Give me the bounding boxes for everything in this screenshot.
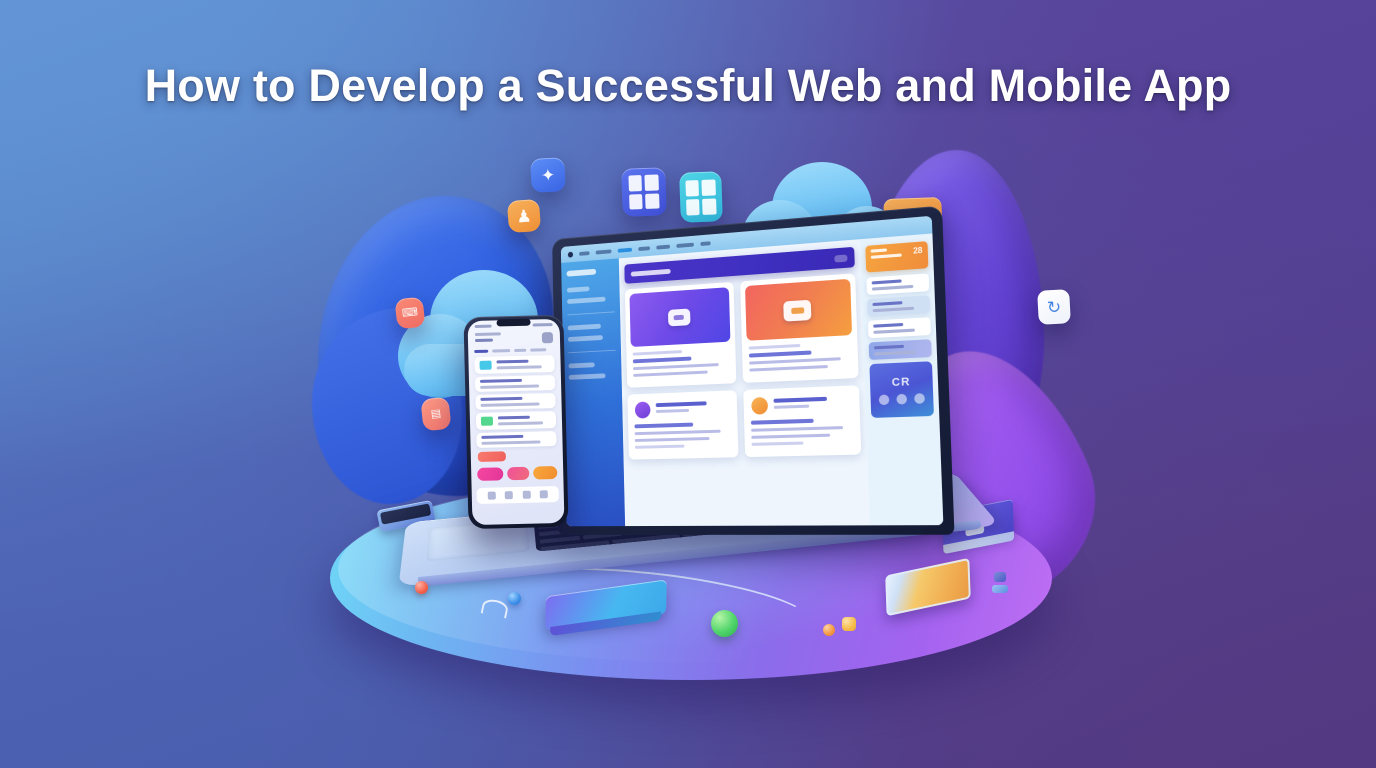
card-text	[626, 347, 735, 377]
article-card-orange[interactable]	[743, 385, 861, 457]
green-sphere-prop	[711, 610, 738, 637]
sidebar-item[interactable]	[568, 324, 601, 331]
list-item-text	[480, 396, 550, 407]
card-title	[748, 351, 811, 358]
grid-glyph-2	[686, 179, 717, 215]
sidebar-divider	[568, 350, 615, 353]
promo-value: 28	[913, 246, 923, 256]
avatar-icon	[751, 397, 768, 415]
card-line	[751, 434, 831, 439]
app-logo-icon	[568, 251, 573, 257]
phone-tab[interactable]	[514, 349, 526, 352]
chart-icon	[914, 393, 925, 404]
rail-footer: CR	[869, 361, 934, 418]
cards-badge-icon	[783, 299, 811, 321]
nav-item[interactable]	[656, 244, 670, 249]
phone-tab[interactable]	[530, 348, 546, 351]
sparkle-glyph: ✦	[540, 166, 555, 184]
sidebar-panel	[561, 258, 625, 526]
grid-layout-icon-2	[679, 171, 723, 222]
card-line	[749, 357, 841, 364]
nav-item[interactable]	[579, 251, 590, 256]
sidebar-item[interactable]	[568, 335, 603, 342]
blue-sphere-prop	[508, 592, 521, 605]
list-item-thumb	[479, 361, 491, 370]
smartphone-device	[463, 315, 568, 529]
card-thumbnail	[629, 287, 729, 347]
promo-text	[871, 247, 902, 262]
list-item[interactable]	[476, 411, 556, 430]
tab-bar-item[interactable]	[505, 491, 513, 499]
phone-tab[interactable]	[492, 349, 510, 352]
card-line	[751, 426, 843, 432]
small-chip-prop	[994, 572, 1006, 582]
article-card-purple[interactable]	[627, 390, 738, 459]
nav-item-active[interactable]	[618, 247, 632, 252]
sidebar-item[interactable]	[567, 286, 590, 292]
card-line	[635, 437, 709, 442]
sidebar-item[interactable]	[568, 362, 594, 368]
list-item[interactable]	[476, 431, 556, 448]
rail-row[interactable]	[867, 295, 930, 316]
card-text	[628, 421, 738, 449]
phone-app-header	[468, 328, 560, 350]
ai-sparkle-icon: ✦	[530, 157, 566, 193]
chip-pink[interactable]	[477, 467, 503, 481]
card-eyebrow	[633, 350, 682, 355]
nav-item[interactable]	[638, 246, 650, 251]
list-item-text	[481, 434, 551, 445]
card-line	[635, 430, 721, 435]
rail-footer-label: CR	[892, 375, 911, 388]
card-header-row	[628, 398, 737, 419]
rail-row[interactable]	[869, 339, 932, 360]
status-time	[475, 325, 492, 328]
laptop-lid: 28 CR	[552, 206, 954, 535]
orange-sphere-prop	[823, 624, 835, 636]
phone-header-text	[475, 332, 501, 345]
card-meta	[773, 396, 852, 412]
card-title	[633, 357, 692, 364]
cloud-icon	[879, 394, 890, 405]
card-line	[751, 442, 804, 446]
refresh-glyph: ↻	[1046, 298, 1061, 316]
card-text	[742, 341, 859, 372]
download-icon	[896, 393, 907, 404]
phone-list	[468, 355, 562, 448]
card-line	[633, 371, 707, 377]
card-line	[635, 445, 684, 449]
tab-bar-item[interactable]	[487, 492, 495, 500]
list-item[interactable]	[475, 393, 555, 410]
status-indicators-icon	[533, 323, 553, 326]
grid-glyph	[628, 175, 660, 210]
chip-magenta[interactable]	[507, 467, 529, 481]
sync-refresh-icon: ↻	[1037, 289, 1071, 325]
main-content	[619, 239, 870, 526]
card-eyebrow	[748, 344, 800, 350]
sidebar-divider	[567, 311, 614, 315]
list-item[interactable]	[474, 355, 554, 374]
feature-card-purple[interactable]	[625, 282, 736, 388]
list-item-text	[496, 359, 549, 369]
phone-tab-active[interactable]	[474, 350, 488, 353]
card-line	[633, 363, 719, 370]
list-item-text	[480, 378, 550, 389]
sidebar-item[interactable]	[569, 373, 606, 379]
right-rail: 28 CR	[860, 233, 943, 525]
rail-row[interactable]	[866, 273, 929, 295]
avatar-icon	[635, 401, 651, 418]
page-title: How to Develop a Successful Web and Mobi…	[0, 60, 1376, 112]
card-title	[634, 423, 693, 429]
laptop-screen: 28 CR	[561, 216, 944, 526]
nav-item[interactable]	[676, 242, 694, 247]
phone-notch	[496, 319, 530, 327]
tab-bar-item[interactable]	[540, 490, 548, 498]
phone-tab-bar	[477, 486, 559, 504]
phone-header-icon[interactable]	[542, 332, 553, 343]
card-header-row	[743, 393, 860, 414]
sidebar-title	[566, 269, 596, 277]
hero-title	[631, 268, 671, 276]
hero-action-button[interactable]	[834, 254, 847, 262]
image-badge-icon	[668, 308, 691, 326]
card-thumbnail	[745, 279, 853, 341]
promo-card-orange[interactable]: 28	[865, 241, 928, 272]
card-title	[750, 419, 813, 425]
chip-orange[interactable]	[533, 466, 557, 480]
tab-bar-item[interactable]	[522, 491, 530, 499]
card-grid	[625, 273, 861, 459]
list-item-thumb	[481, 417, 493, 426]
grid-layout-icon	[621, 167, 667, 217]
gold-cube-prop	[842, 617, 856, 631]
small-chip-prop-2	[992, 585, 1008, 593]
phone-action-chips	[471, 460, 564, 485]
feature-card-orange[interactable]	[740, 273, 859, 383]
illustration-stage: How to Develop a Successful Web and Mobi…	[0, 0, 1376, 768]
list-item[interactable]	[475, 375, 555, 392]
nav-item[interactable]	[700, 241, 710, 246]
app-body: 28 CR	[561, 233, 943, 526]
card-text	[744, 417, 861, 446]
phone-tag-badge	[478, 451, 506, 462]
rail-footer-icons	[879, 393, 925, 405]
list-item-text	[498, 415, 551, 425]
phone-screen	[468, 319, 565, 525]
sidebar-item[interactable]	[567, 297, 606, 304]
card-line	[749, 365, 828, 372]
red-sphere-prop	[415, 581, 428, 594]
nav-item[interactable]	[596, 249, 612, 254]
card-meta	[656, 400, 729, 415]
rail-row[interactable]	[868, 317, 931, 338]
